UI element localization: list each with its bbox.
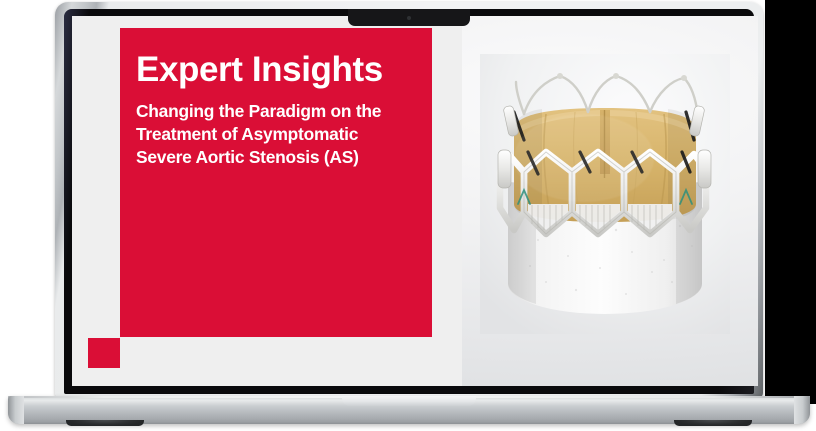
base-foot-left	[66, 420, 144, 426]
base-center-indent	[342, 396, 476, 406]
page-title: Expert Insights	[136, 52, 426, 89]
subtitle-line-3: Severe Aortic Stenosis (AS)	[136, 146, 416, 169]
title-red-panel: Expert Insights Changing the Paradigm on…	[120, 28, 432, 337]
webcam-notch	[348, 9, 470, 26]
base-foot-right	[674, 420, 752, 426]
base-right-edge	[794, 396, 810, 424]
accent-square	[88, 338, 120, 368]
screenshot-stage: Expert Insights Changing the Paradigm on…	[0, 0, 816, 431]
laptop-mockup: Expert Insights Changing the Paradigm on…	[0, 0, 816, 431]
page-subtitle: Changing the Paradigm on the Treatment o…	[136, 100, 416, 169]
subtitle-line-1: Changing the Paradigm on the	[136, 100, 416, 123]
base-left-edge	[8, 396, 24, 424]
laptop-base	[8, 396, 810, 424]
tavr-heart-valve-image	[480, 54, 730, 334]
slide-canvas: Expert Insights Changing the Paradigm on…	[72, 16, 758, 386]
camera-lens-icon	[407, 16, 411, 20]
subtitle-line-2: Treatment of Asymptomatic	[136, 123, 416, 146]
